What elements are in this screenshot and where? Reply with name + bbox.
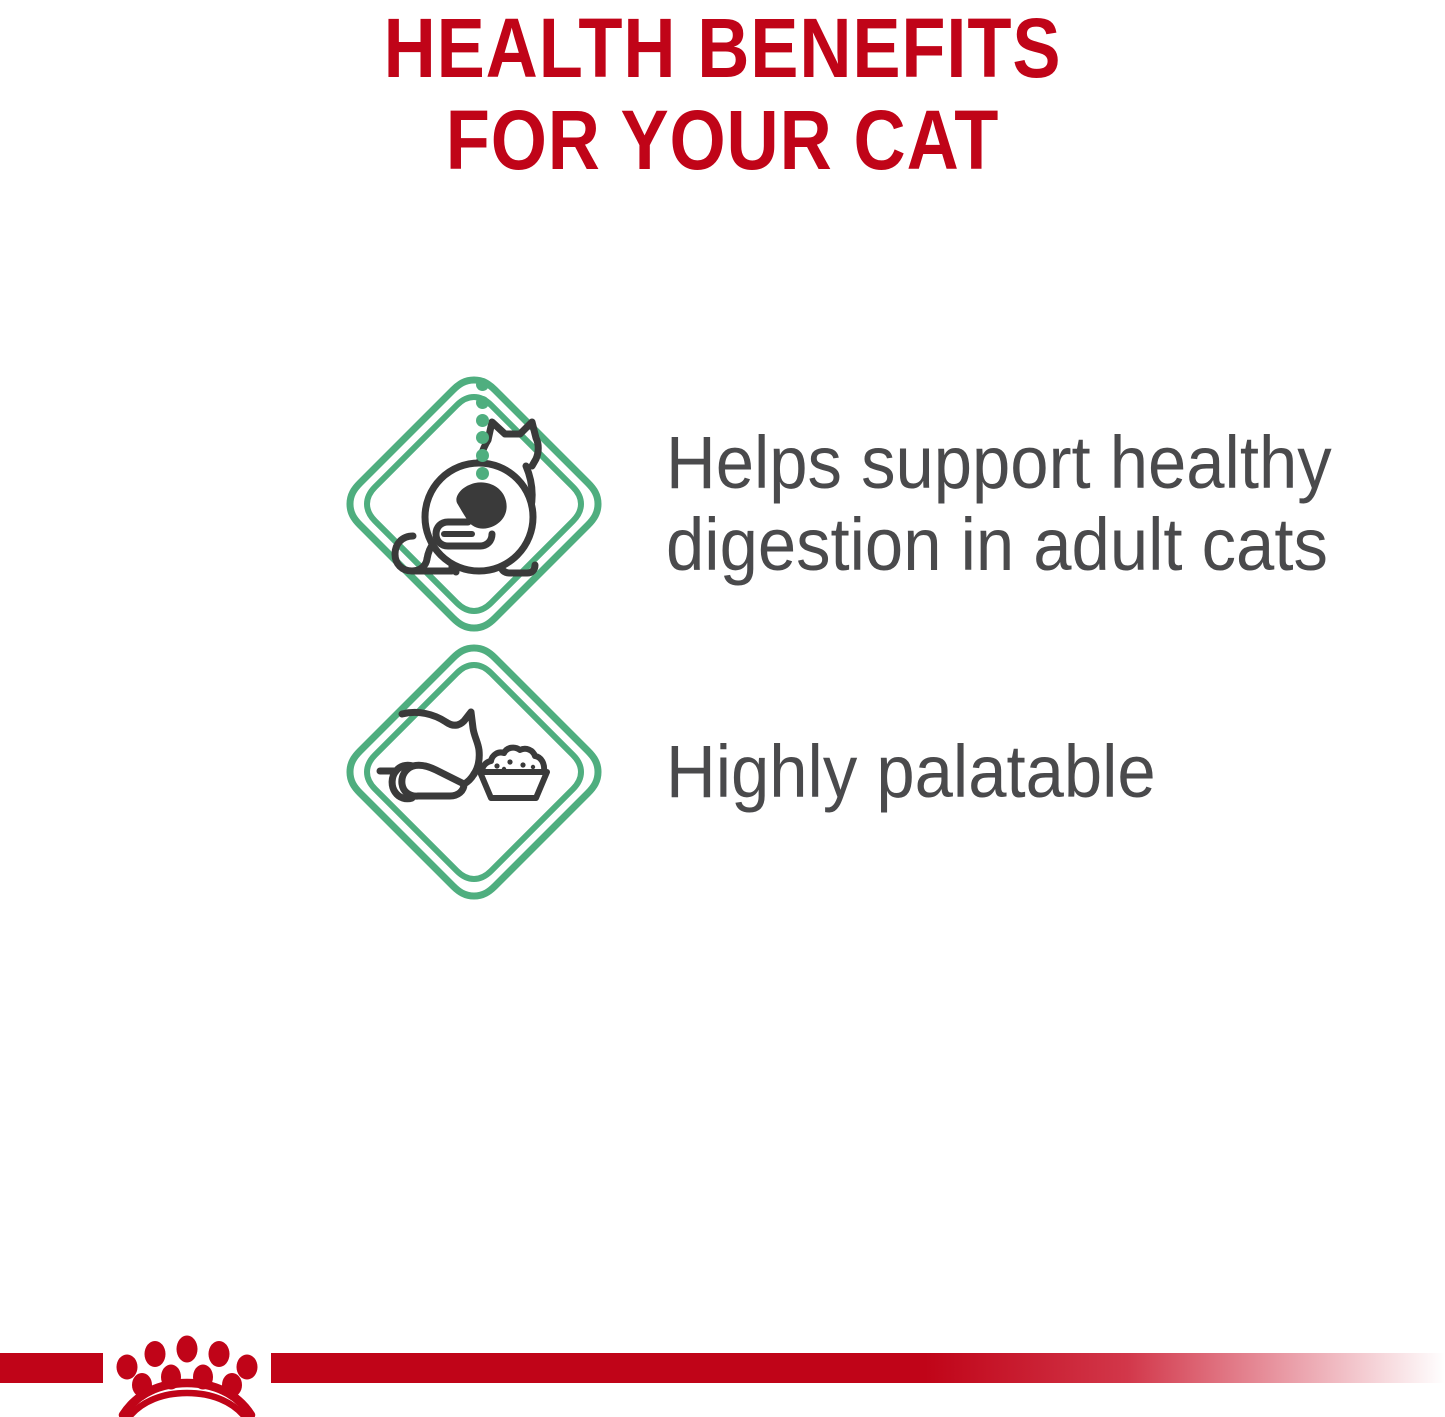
benefit-text-cell: Highly palatable [630, 731, 1445, 813]
benefit-item-palatable: Highly palatable [0, 638, 1445, 906]
footer [0, 1327, 1445, 1417]
royal-canin-crown-logo [103, 1327, 271, 1417]
benefit-label-palatable: Highly palatable [666, 731, 1390, 813]
cat-eating-bowl-icon [340, 638, 608, 906]
benefit-text-cell: Helps support healthy digestion in adult… [630, 422, 1445, 586]
benefit-icon-cell [0, 370, 630, 638]
benefit-item-digestion: Helps support healthy digestion in adult… [0, 370, 1445, 638]
benefits-list: Helps support healthy digestion in adult… [0, 370, 1445, 906]
cat-digestion-icon [340, 370, 608, 638]
health-benefits-panel: HEALTH BENEFITS FOR YOUR CAT [0, 0, 1445, 1417]
benefit-label-digestion: Helps support healthy digestion in adult… [666, 422, 1390, 586]
page-title: HEALTH BENEFITS FOR YOUR CAT [0, 0, 1445, 186]
page-title-line-2: FOR YOUR CAT [101, 94, 1344, 186]
benefit-icon-cell [0, 638, 630, 906]
page-title-line-1: HEALTH BENEFITS [101, 2, 1344, 94]
